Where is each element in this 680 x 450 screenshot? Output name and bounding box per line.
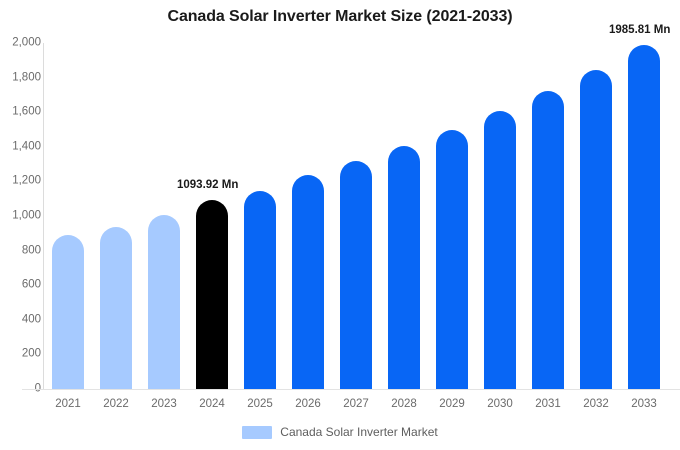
bar-2024[interactable] (196, 200, 228, 389)
x-axis-tick-label: 2032 (572, 398, 620, 410)
x-axis-tick-label: 2031 (524, 398, 572, 410)
bar-2028[interactable] (388, 146, 420, 389)
x-axis-tick-label: 2024 (188, 398, 236, 410)
bar-2030[interactable] (484, 111, 516, 389)
legend-item[interactable]: Canada Solar Inverter Market (242, 425, 437, 439)
x-axis-tick-label: 2023 (140, 398, 188, 410)
bar-2033[interactable] (628, 45, 660, 389)
legend-swatch-icon (242, 426, 272, 439)
bar-2026[interactable] (292, 175, 324, 389)
data-label-2024: 1093.92 Mn (177, 179, 238, 191)
bar-2032[interactable] (580, 70, 612, 389)
legend-label: Canada Solar Inverter Market (280, 425, 437, 439)
x-axis-tick-label: 2030 (476, 398, 524, 410)
x-axis-tick-label: 2026 (284, 398, 332, 410)
bar-2031[interactable] (532, 91, 564, 389)
chart-legend: Canada Solar Inverter Market (0, 425, 680, 439)
x-axis-tick-label: 2028 (380, 398, 428, 410)
bar-2029[interactable] (436, 130, 468, 390)
x-axis-tick-label: 2021 (44, 398, 92, 410)
bar-2021[interactable] (52, 235, 84, 389)
x-axis-tick-label: 2029 (428, 398, 476, 410)
bar-2023[interactable] (148, 215, 180, 389)
x-axis-tick-label: 2022 (92, 398, 140, 410)
x-axis-tick-label: 2033 (620, 398, 668, 410)
data-label-2033: 1985.81 Mn (609, 24, 670, 36)
x-axis-tick-label: 2027 (332, 398, 380, 410)
bar-2022[interactable] (100, 227, 132, 389)
bar-chart: Canada Solar Inverter Market Size (2021-… (0, 0, 680, 450)
bar-2025[interactable] (244, 191, 276, 389)
bar-2027[interactable] (340, 161, 372, 389)
bars-layer: 20212022202320241093.92 Mn20252026202720… (0, 0, 680, 450)
x-axis-tick-label: 2025 (236, 398, 284, 410)
